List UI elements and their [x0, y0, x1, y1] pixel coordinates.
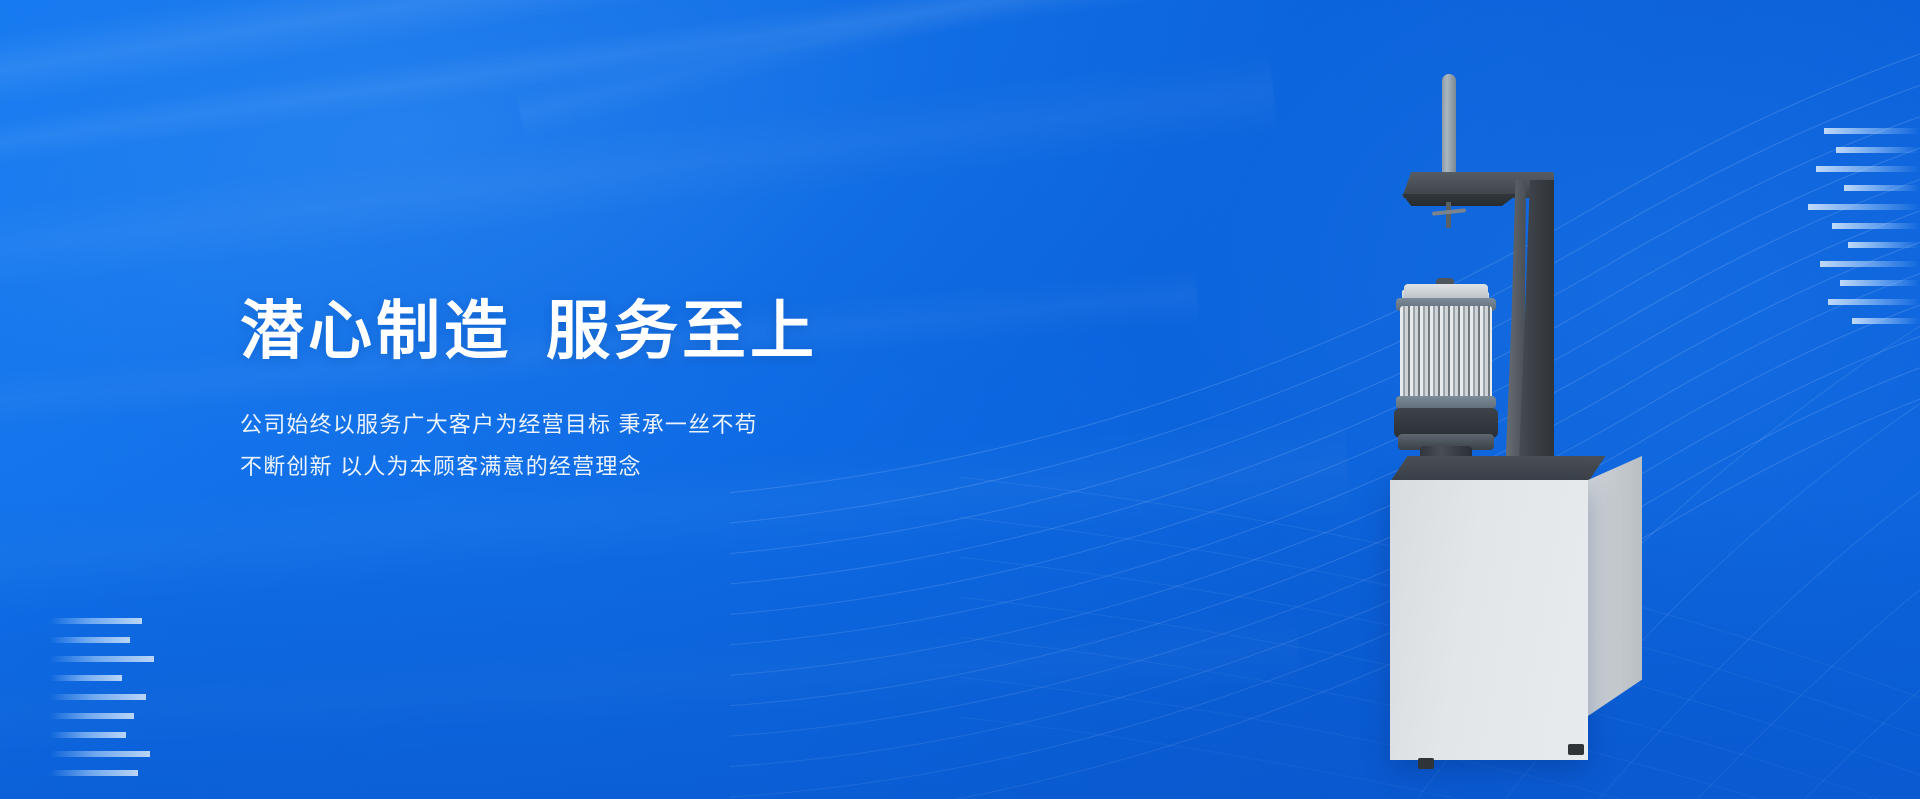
spindle-shaft — [1446, 202, 1451, 228]
decor-bar — [1848, 242, 1920, 248]
cabinet-top-surface — [1390, 456, 1606, 482]
decor-bar — [50, 675, 122, 681]
headline-part-1: 潜心制造 — [240, 295, 512, 367]
light-sweep-6 — [0, 608, 1301, 772]
decor-bar — [50, 751, 150, 757]
cabinet-side-panel — [1588, 456, 1642, 716]
decor-bar — [1836, 147, 1920, 153]
product-illustration — [1372, 52, 1712, 797]
decor-bar — [1840, 280, 1920, 286]
light-sweep-2 — [0, 0, 1215, 217]
subtitle-line-1: 公司始终以服务广大客户为经营目标 秉承一丝不苟 — [240, 404, 1040, 446]
decor-bar — [1828, 299, 1920, 305]
decor-bar — [50, 732, 126, 738]
hero-subtitle: 公司始终以服务广大客户为经营目标 秉承一丝不苟 不断创新 以人为本顾客满意的经营… — [240, 404, 1040, 488]
decor-bar — [1816, 166, 1920, 172]
guide-rod — [1442, 74, 1456, 186]
page-title: 潜心制造服务至上 — [240, 296, 1040, 368]
bottom-left-bar-decoration — [50, 618, 154, 789]
cabinet-front-panel — [1390, 480, 1588, 760]
headline-part-2: 服务至上 — [546, 295, 818, 367]
decor-bar — [1852, 318, 1920, 324]
cabinet-foot — [1568, 744, 1584, 755]
hero-banner: 潜心制造服务至上 公司始终以服务广大客户为经营目标 秉承一丝不苟 不断创新 以人… — [0, 0, 1920, 799]
decor-bar — [50, 618, 142, 624]
decor-bar — [1832, 223, 1920, 229]
decor-bar — [50, 637, 130, 643]
hero-copy-block: 潜心制造服务至上 公司始终以服务广大客户为经营目标 秉承一丝不苟 不断创新 以人… — [240, 296, 1040, 488]
cross-arm-underside — [1402, 194, 1518, 206]
decor-bar — [1808, 204, 1920, 210]
decor-bar — [50, 656, 154, 662]
decor-bar — [1824, 128, 1920, 134]
decor-bar — [50, 770, 138, 776]
decor-bar — [50, 713, 134, 719]
right-edge-bar-decoration — [1808, 128, 1920, 337]
finned-drum — [1400, 306, 1492, 402]
subtitle-line-2: 不断创新 以人为本顾客满意的经营理念 — [240, 446, 1040, 488]
decor-bar — [1820, 261, 1920, 267]
cabinet-foot — [1418, 758, 1434, 769]
decor-bar — [50, 694, 146, 700]
decor-bar — [1844, 185, 1920, 191]
light-sweep-1 — [0, 0, 1156, 157]
